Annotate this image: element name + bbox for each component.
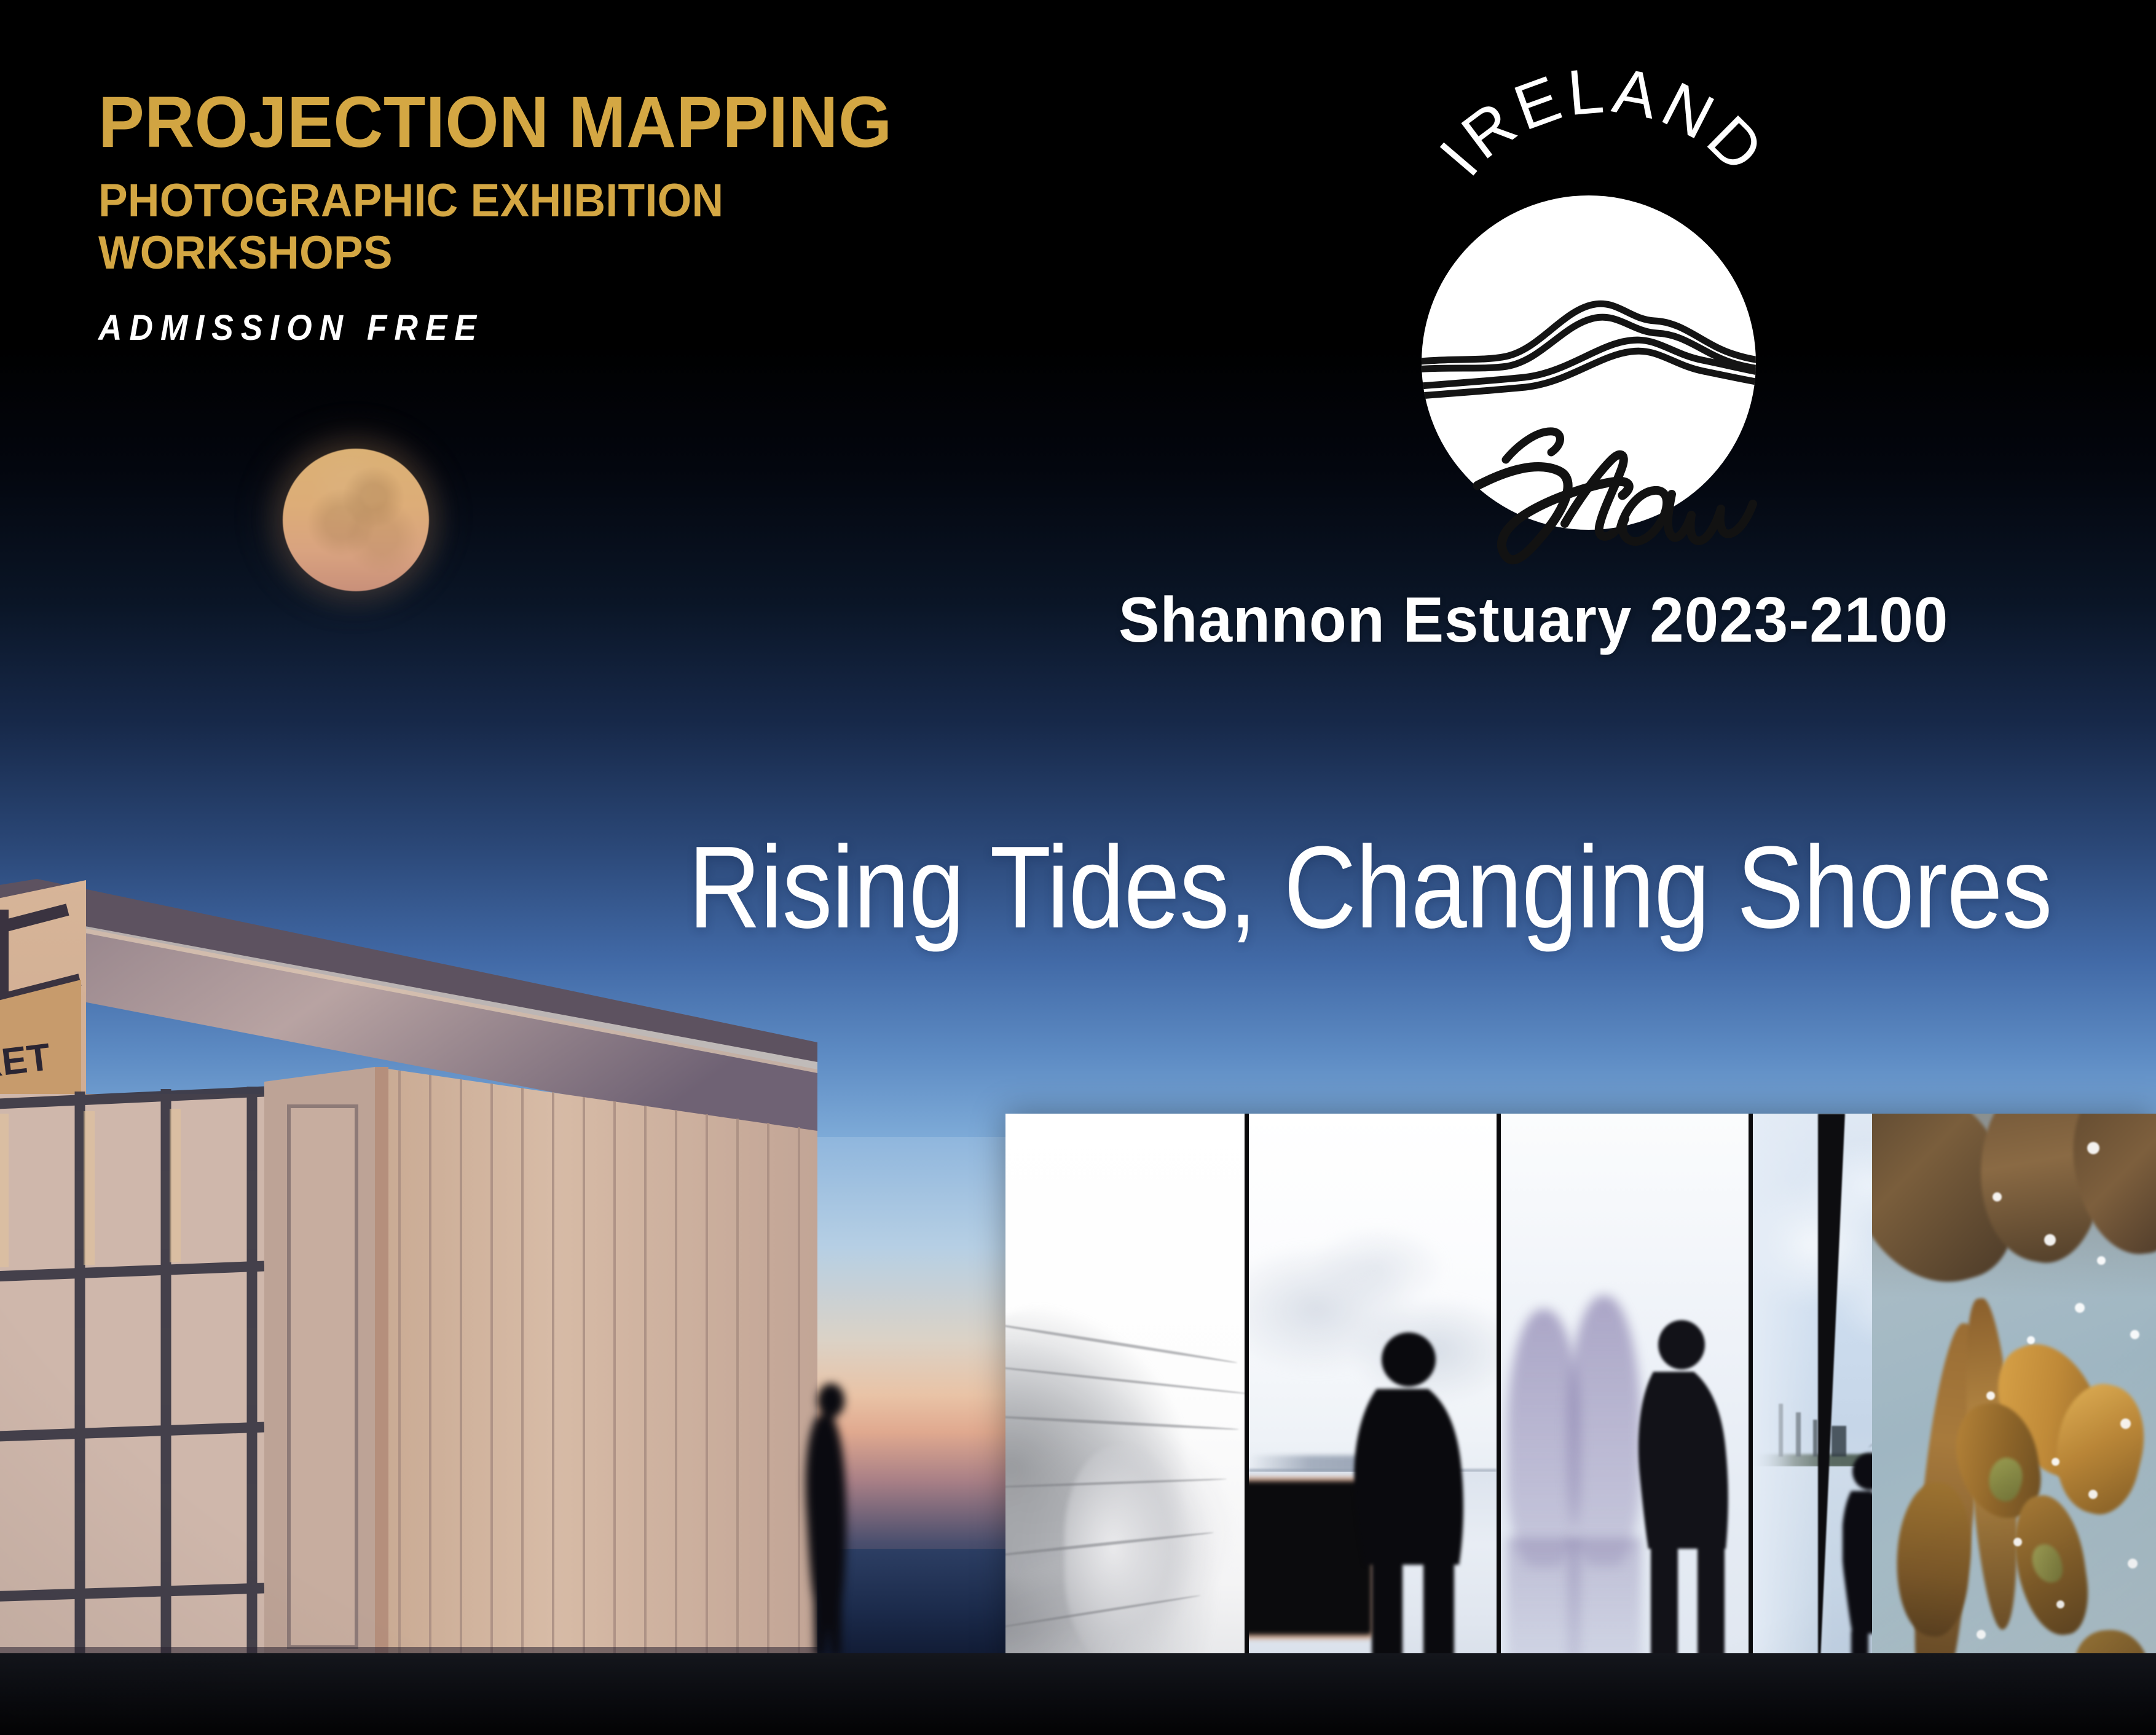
- admission-free-label: ADMISSION FREE: [98, 307, 1003, 348]
- poster-root: PROJECTION MAPPING PHOTOGRAPHIC EXHIBITI…: [0, 0, 2156, 1735]
- silhouette-person: [793, 1380, 860, 1699]
- subtitle-shannon-estuary: Shannon Estuary 2023-2100: [1119, 584, 1948, 657]
- header-line-photographic-exhibition: PHOTOGRAPHIC EXHIBITION: [98, 175, 1023, 227]
- panel-divider-1: [1245, 1114, 1249, 1715]
- screen-edge-wedge: [1818, 1114, 1845, 1715]
- header-line-projection-mapping: PROJECTION MAPPING: [98, 86, 1033, 159]
- header-text-block: PROJECTION MAPPING PHOTOGRAPHIC EXHIBITI…: [98, 86, 1082, 348]
- panel-seascape: [1249, 1114, 1497, 1715]
- panel-portrait: [1005, 1114, 1245, 1715]
- logo-arc-text: IRELAND: [1426, 55, 1780, 189]
- panel-ghost-figures: [1501, 1114, 1749, 1715]
- projection-screen-array: [1005, 1114, 2156, 1715]
- wooden-boathouse-shed: ERET: [0, 725, 817, 1696]
- panel-divider-2: [1497, 1114, 1501, 1715]
- panel-kelp: [1872, 1114, 2156, 1715]
- flow-ireland-logo: IRELAND: [1414, 55, 1795, 565]
- panel-divider-3: [1749, 1114, 1753, 1715]
- full-moon-icon: [283, 449, 429, 591]
- main-title: Rising Tides, Changing Shores: [688, 820, 2052, 954]
- header-line-workshops: WORKSHOPS: [98, 227, 1023, 279]
- foreground-ground: [0, 1653, 2156, 1735]
